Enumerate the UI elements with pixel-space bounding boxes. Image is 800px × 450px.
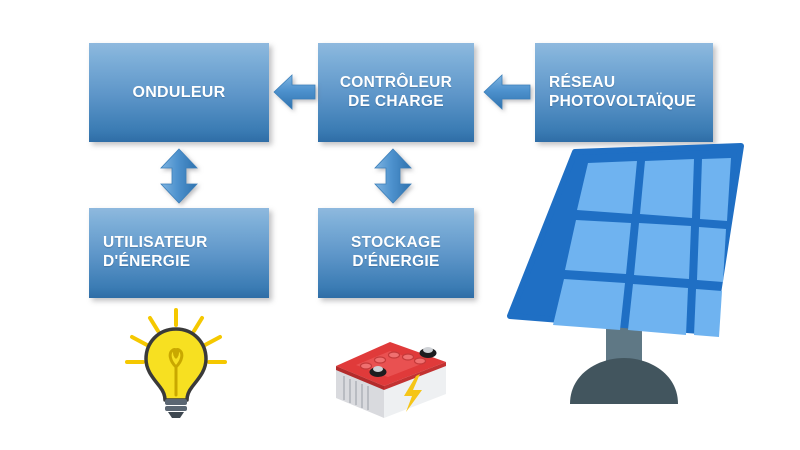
car-battery-icon (332, 332, 450, 420)
arrow-left-icon-controller-to-inverter (272, 72, 317, 112)
box-energy-user-label: UTILISATEUR D'ÉNERGIE (103, 234, 208, 272)
arrow-double-vertical-icon-controller-storage (372, 147, 414, 205)
arrow-double-vertical-icon-inverter-user (158, 147, 200, 205)
box-charge-controller[interactable]: CONTRÔLEUR DE CHARGE (318, 43, 474, 142)
arrow-left-icon-pv-to-controller (482, 72, 532, 112)
box-inverter-label: ONDULEUR (132, 83, 225, 103)
box-photovoltaic-array-label: RÉSEAU PHOTOVOLTAÏQUE (549, 74, 696, 112)
box-energy-user[interactable]: UTILISATEUR D'ÉNERGIE (89, 208, 269, 298)
light-bulb-icon (122, 307, 230, 419)
box-energy-storage-label: STOCKAGE D'ÉNERGIE (351, 234, 441, 272)
diagram-canvas: ONDULEUR CONTRÔLEUR DE CHARGE RÉSEAU PHO… (0, 0, 800, 450)
box-inverter[interactable]: ONDULEUR (89, 43, 269, 142)
box-photovoltaic-array[interactable]: RÉSEAU PHOTOVOLTAÏQUE (535, 43, 713, 142)
box-energy-storage[interactable]: STOCKAGE D'ÉNERGIE (318, 208, 474, 298)
box-charge-controller-label: CONTRÔLEUR DE CHARGE (340, 74, 452, 112)
solar-panel-icon (498, 142, 766, 418)
